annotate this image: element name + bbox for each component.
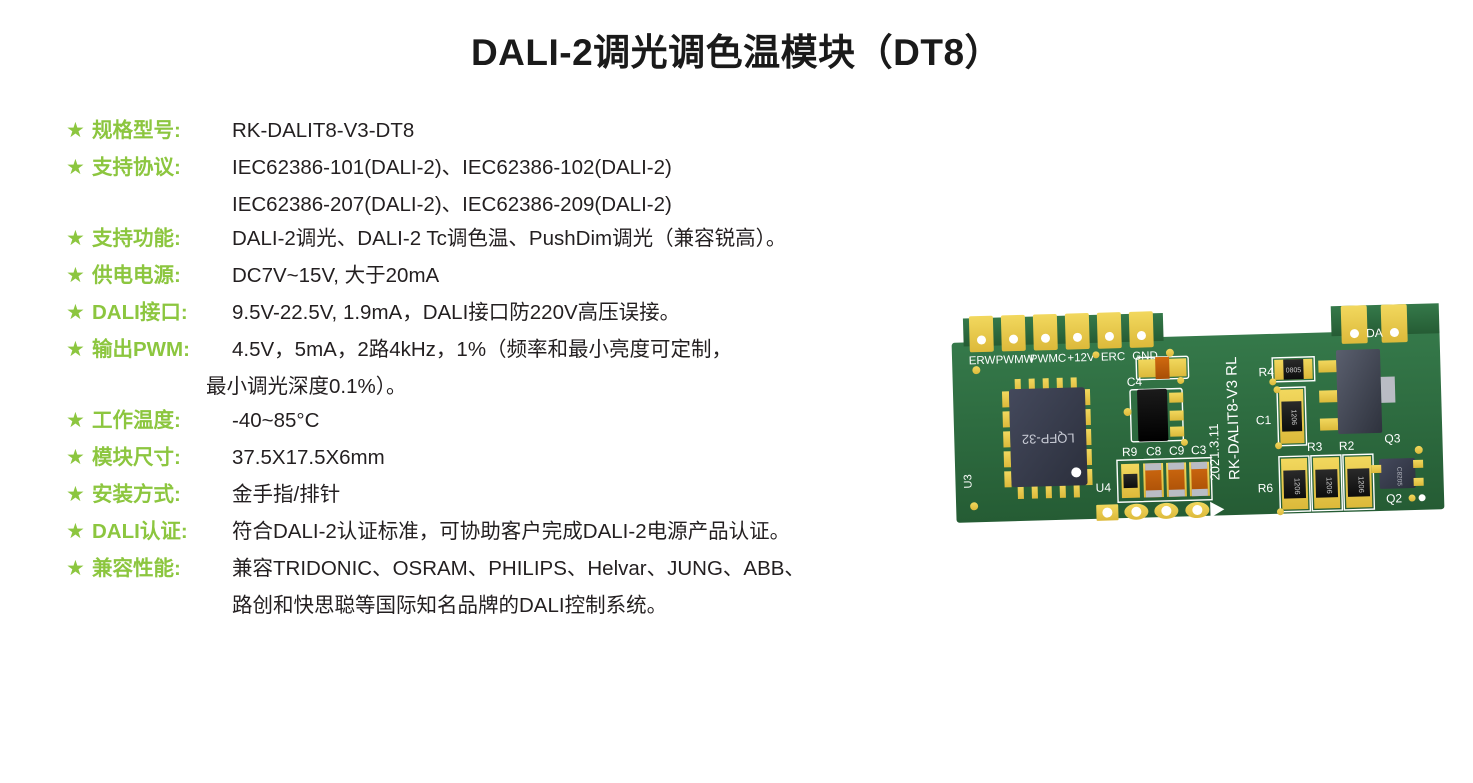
spec-row: ★ 模块尺寸: 37.5X17.5X6mm	[66, 441, 1066, 475]
spec-row: ★ DALI认证: 符合DALI-2认证标准，可协助客户完成DALI-2电源产品…	[66, 515, 1066, 549]
star-icon: ★	[66, 114, 92, 148]
spec-label: 输出PWM:	[92, 333, 216, 367]
spec-label: DALI接口:	[92, 296, 216, 330]
star-icon: ★	[66, 259, 92, 293]
resistor-code: 0805	[1286, 367, 1302, 374]
spec-value: DALI-2调光、DALI-2 Tc调色温、PushDim调光（兼容锐高）。	[232, 222, 786, 256]
spec-label: 供电电源:	[92, 259, 232, 293]
resistor-code: 1206	[1324, 477, 1333, 494]
pin-label: ERC	[1101, 351, 1126, 364]
spec-row: ★ 工作温度: -40~85°C	[66, 404, 1066, 438]
resistor-code: 1206	[1290, 409, 1297, 425]
transistor-code: C8205	[1395, 467, 1403, 487]
spec-row: ★ 支持协议: IEC62386-101(DALI-2)、IEC62386-10…	[66, 151, 1066, 185]
spec-label: 安装方式:	[92, 478, 232, 512]
resistor-code: 1206	[1292, 478, 1301, 495]
spec-row: ★ 输出PWM: 4.5V，5mA，2路4kHz，1%（频率和最小亮度可定制，	[66, 333, 1066, 367]
pcb-illustration: ERW PWMW PWMC +12V ERC GND DA	[944, 289, 1451, 563]
pin-label: ERW	[969, 355, 996, 368]
spec-value: 符合DALI-2认证标准，可协助客户完成DALI-2电源产品认证。	[232, 515, 790, 549]
designator-r9: R9	[1122, 445, 1138, 459]
spec-value: 4.5V，5mA，2路4kHz，1%（频率和最小亮度可定制，	[232, 333, 732, 367]
star-icon: ★	[66, 404, 92, 438]
designator-c1: C1	[1256, 413, 1272, 427]
spec-value-continuation: 最小调光深度0.1%）。	[206, 370, 1066, 404]
star-icon: ★	[66, 151, 92, 185]
spec-value: 兼容TRIDONIC、OSRAM、PHILIPS、Helvar、JUNG、ABB…	[232, 552, 805, 586]
designator-u3: U3	[962, 474, 974, 488]
spec-row: ★ 支持功能: DALI-2调光、DALI-2 Tc调色温、PushDim调光（…	[66, 222, 1066, 256]
spec-row: ★ 供电电源: DC7V~15V, 大于20mA	[66, 259, 1066, 293]
designator-r6: R6	[1258, 481, 1274, 495]
spec-row: ★ DALI接口: 9.5V-22.5V, 1.9mA，DALI接口防220V高…	[66, 296, 1066, 330]
silkscreen-date: 2021.3.11	[1206, 423, 1223, 480]
resistor-code: 1206	[1356, 476, 1365, 493]
spec-label: 支持协议:	[92, 151, 232, 185]
spec-value-continuation: IEC62386-207(DALI-2)、IEC62386-209(DALI-2…	[232, 188, 1066, 222]
designator-c4: C4	[1127, 375, 1143, 389]
designator-c8: C8	[1146, 444, 1162, 458]
star-icon: ★	[66, 333, 92, 367]
designator-r2: R2	[1339, 439, 1355, 453]
spec-value: RK-DALIT8-V3-DT8	[232, 114, 414, 148]
silkscreen-part-number: RK-DALIT8-V3 RL	[1223, 356, 1243, 480]
spec-value: 9.5V-22.5V, 1.9mA，DALI接口防220V高压误接。	[232, 296, 680, 330]
star-icon: ★	[66, 441, 92, 475]
designator-c3: C3	[1191, 443, 1207, 457]
spec-value: DC7V~15V, 大于20mA	[232, 259, 439, 293]
spec-value: 金手指/排针	[232, 478, 340, 512]
main-ic: LQFP-32	[1002, 377, 1093, 499]
spec-row: ★ 安装方式: 金手指/排针	[66, 478, 1066, 512]
designator-q2: Q2	[1386, 491, 1403, 505]
pin-label: +12V	[1067, 352, 1095, 365]
star-icon: ★	[66, 515, 92, 549]
spec-value-continuation: 路创和快思聪等国际知名品牌的DALI控制系统。	[232, 589, 1066, 623]
page-title: DALI-2调光调色温模块（DT8）	[0, 22, 1473, 76]
spec-value: IEC62386-101(DALI-2)、IEC62386-102(DALI-2…	[232, 151, 672, 185]
designator-c9: C9	[1169, 443, 1185, 457]
spec-label: 模块尺寸:	[92, 441, 232, 475]
star-icon: ★	[66, 296, 92, 330]
main-ic-label: LQFP-32	[1022, 430, 1075, 446]
star-icon: ★	[66, 552, 92, 586]
designator-q3: Q3	[1384, 431, 1401, 445]
spec-label: 支持功能:	[92, 222, 232, 256]
spec-label: 工作温度:	[92, 404, 232, 438]
pcb-photo: ERW PWMW PWMC +12V ERC GND DA	[948, 296, 1448, 556]
star-icon: ★	[66, 478, 92, 512]
spec-row: ★ 兼容性能: 兼容TRIDONIC、OSRAM、PHILIPS、Helvar、…	[66, 552, 1066, 586]
spec-label: 兼容性能:	[92, 552, 232, 586]
spec-list: ★ 规格型号: RK-DALIT8-V3-DT8 ★ 支持协议: IEC6238…	[66, 114, 1066, 623]
designator-r3: R3	[1307, 440, 1323, 454]
spec-row: ★ 规格型号: RK-DALIT8-V3-DT8	[66, 114, 1066, 148]
spec-value: 37.5X17.5X6mm	[232, 441, 385, 475]
pin-label: PWMC	[1030, 353, 1067, 366]
star-icon: ★	[66, 222, 92, 256]
spec-label: 规格型号:	[92, 114, 232, 148]
spec-label: DALI认证:	[92, 515, 216, 549]
spec-value: -40~85°C	[232, 404, 319, 438]
dali-pad-label: DA	[1366, 326, 1383, 340]
designator-u4: U4	[1095, 480, 1111, 494]
